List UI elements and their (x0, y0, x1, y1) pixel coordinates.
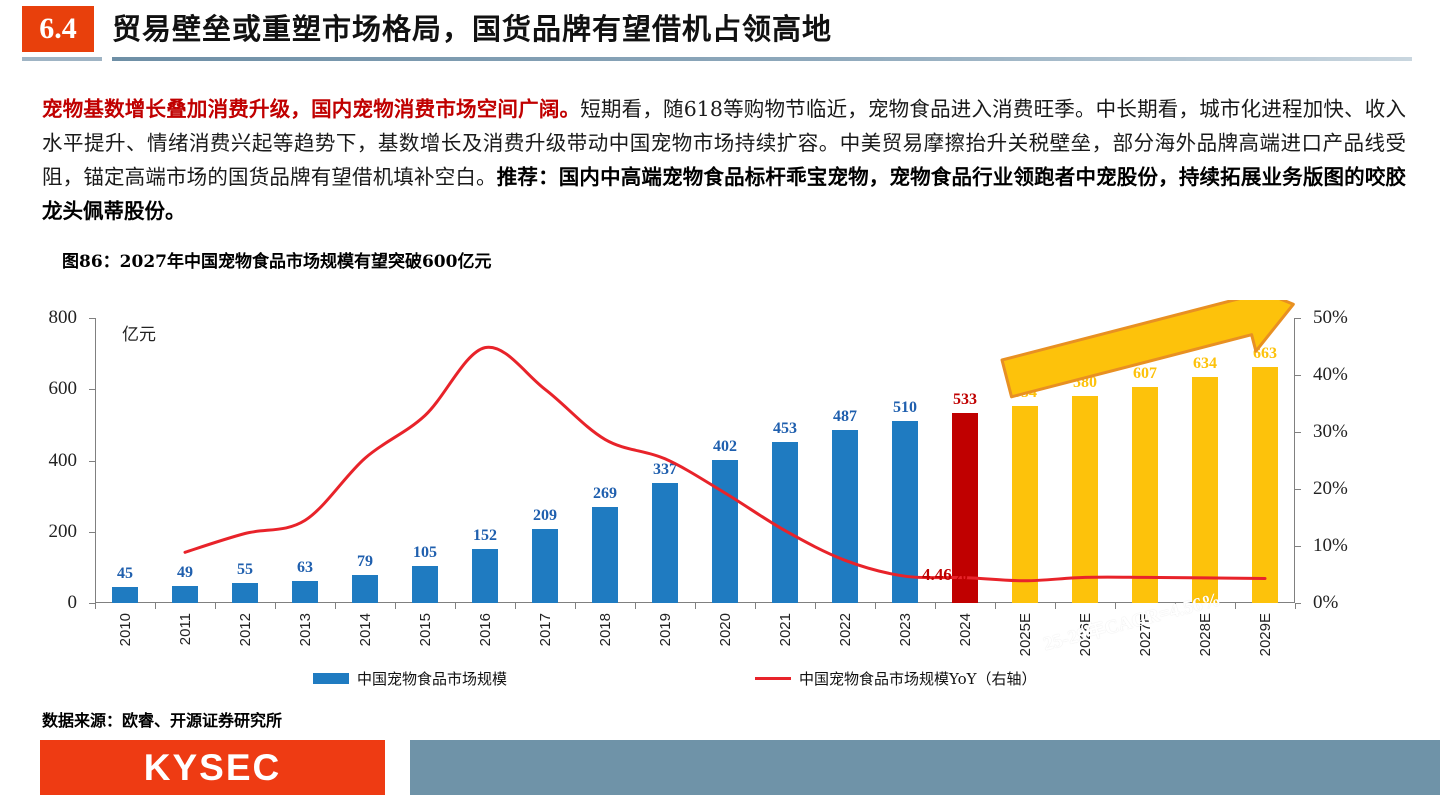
bar-value-label: 402 (695, 438, 755, 456)
chart-plot-area: 02004006008000%10%20%30%40%50%4520104920… (95, 318, 1295, 603)
chart-bar (1132, 387, 1158, 603)
y-tick-left (89, 532, 95, 533)
x-tick (935, 603, 936, 609)
legend-label-bar: 中国宠物食品市场规模 (357, 668, 507, 689)
x-tick (815, 603, 816, 609)
x-tick (1295, 603, 1296, 609)
y-axis-tick-label-right: 10% (1313, 535, 1383, 557)
chart-bar (592, 507, 618, 603)
legend-label-line: 中国宠物食品市场规模YoY（右轴） (799, 668, 1037, 689)
chart-bar (472, 549, 498, 603)
chart-bar (172, 586, 198, 603)
chart-bar (532, 529, 558, 603)
x-tick (635, 603, 636, 609)
chart-bar (772, 442, 798, 603)
legend-swatch-line-icon (755, 677, 791, 680)
y-axis-tick-label-left: 200 (17, 521, 77, 543)
x-tick (1235, 603, 1236, 609)
header-rule (112, 57, 1412, 61)
x-axis-tick-label: 2010 (117, 613, 134, 646)
chart-bar (292, 581, 318, 603)
x-tick (1055, 603, 1056, 609)
footer-band (410, 740, 1440, 795)
x-tick (515, 603, 516, 609)
chart-bar (892, 421, 918, 603)
y-tick-right (1295, 489, 1301, 490)
chart-bar (1192, 377, 1218, 603)
chart-bar (1012, 406, 1038, 603)
y-tick-left (89, 461, 95, 462)
bar-value-label: 533 (935, 391, 995, 409)
paragraph-lead-highlight: 宠物基数增长叠加消费升级，国内宠物消费市场空间广阔。 (42, 97, 580, 121)
bar-value-label: 105 (395, 544, 455, 562)
footer-logo-text: KYSEC (40, 740, 385, 795)
x-axis-tick-label: 2023 (897, 613, 914, 646)
y-tick-right (1295, 375, 1301, 376)
chart-figure: 亿元 02004006008000%10%20%30%40%50%4520104… (0, 300, 1440, 700)
bar-value-label: 63 (275, 559, 335, 577)
header-rule-left (22, 57, 102, 61)
x-axis-tick-label: 2011 (177, 613, 194, 645)
x-axis-tick-label: 2025E (1017, 613, 1034, 656)
data-source-note: 数据来源：欧睿、开源证券研究所 (42, 707, 282, 731)
legend-swatch-bar-icon (313, 673, 349, 684)
x-axis-tick-label: 2012 (237, 613, 254, 646)
x-tick (155, 603, 156, 609)
y-tick-right (1295, 546, 1301, 547)
chart-legend: 中国宠物食品市场规模 中国宠物食品市场规模YoY（右轴） (0, 668, 1440, 694)
bar-value-label: 45 (95, 565, 155, 583)
chart-bar (352, 575, 378, 603)
bar-value-label: 510 (875, 399, 935, 417)
y-tick-right (1295, 432, 1301, 433)
bar-value-label: 152 (455, 527, 515, 545)
y-tick-right (1295, 318, 1301, 319)
x-axis-tick-label: 2024 (957, 613, 974, 646)
bar-value-label: 634 (1175, 355, 1235, 373)
x-tick (275, 603, 276, 609)
bar-value-label: 663 (1235, 345, 1295, 363)
y-axis-tick-label-right: 30% (1313, 421, 1383, 443)
bar-value-label: 607 (1115, 365, 1175, 383)
page-title: 贸易壁垒或重塑市场格局，国货品牌有望借机占领高地 (112, 6, 832, 48)
x-axis-tick-label: 2015 (417, 613, 434, 646)
x-tick (95, 603, 96, 609)
y-axis-tick-label-right: 40% (1313, 364, 1383, 386)
x-axis-tick-label: 2016 (477, 613, 494, 646)
x-axis-tick-label: 2021 (777, 613, 794, 646)
chart-bar (232, 583, 258, 603)
x-tick (575, 603, 576, 609)
x-tick (395, 603, 396, 609)
chart-bar (652, 483, 678, 603)
bar-value-label: 487 (815, 408, 875, 426)
y-axis-tick-label-right: 0% (1313, 592, 1383, 614)
y-axis-tick-label-left: 0 (17, 592, 77, 614)
chart-bar (712, 460, 738, 603)
chart-bar (412, 566, 438, 603)
bar-value-label: 337 (635, 461, 695, 479)
legend-item-line: 中国宠物食品市场规模YoY（右轴） (755, 668, 1037, 689)
x-axis-tick-label: 2013 (297, 613, 314, 646)
bar-value-label: 580 (1055, 374, 1115, 392)
bar-value-label: 79 (335, 553, 395, 571)
chart-bar (1252, 367, 1278, 603)
y-axis-tick-label-left: 600 (17, 378, 77, 400)
y-axis-tick-label-right: 20% (1313, 478, 1383, 500)
x-tick (215, 603, 216, 609)
x-axis-tick-label: 2017 (537, 613, 554, 646)
x-axis-tick-label: 2022 (837, 613, 854, 646)
bar-value-label: 269 (575, 485, 635, 503)
y-axis-left (95, 318, 96, 603)
chart-bar (112, 587, 138, 603)
x-tick (1115, 603, 1116, 609)
yoy-point-annotation: 4.46% (922, 565, 969, 585)
x-tick (875, 603, 876, 609)
x-tick (755, 603, 756, 609)
y-axis-tick-label-left: 400 (17, 450, 77, 472)
y-axis-tick-label-left: 800 (17, 307, 77, 329)
page-header: 6.4 贸易壁垒或重塑市场格局，国货品牌有望借机占领高地 (0, 0, 1440, 62)
x-axis-tick-label: 2020 (717, 613, 734, 646)
bar-value-label: 209 (515, 507, 575, 525)
x-tick (995, 603, 996, 609)
x-axis-tick-label: 2019 (657, 613, 674, 646)
x-tick (695, 603, 696, 609)
y-tick-left (89, 318, 95, 319)
section-number-badge: 6.4 (22, 6, 94, 52)
bar-value-label: 49 (155, 564, 215, 582)
chart-bar (1072, 396, 1098, 603)
body-paragraph: 宠物基数增长叠加消费升级，国内宠物消费市场空间广阔。短期看，随618等购物节临近… (42, 92, 1406, 228)
x-axis-tick-label: 2018 (597, 613, 614, 646)
legend-item-bar: 中国宠物食品市场规模 (313, 668, 507, 689)
chart-bar (832, 430, 858, 603)
bar-value-label: 554 (995, 384, 1055, 402)
x-axis-tick-label: 2014 (357, 613, 374, 646)
y-axis-tick-label-right: 50% (1313, 307, 1383, 329)
x-tick (455, 603, 456, 609)
x-axis-tick-label: 2029E (1257, 613, 1274, 656)
y-tick-left (89, 389, 95, 390)
bar-value-label: 453 (755, 420, 815, 438)
x-axis-tick-label: 2028E (1197, 613, 1214, 656)
figure-caption: 图86：2027年中国宠物食品市场规模有望突破600亿元 (62, 247, 491, 272)
bar-value-label: 55 (215, 561, 275, 579)
x-tick (335, 603, 336, 609)
